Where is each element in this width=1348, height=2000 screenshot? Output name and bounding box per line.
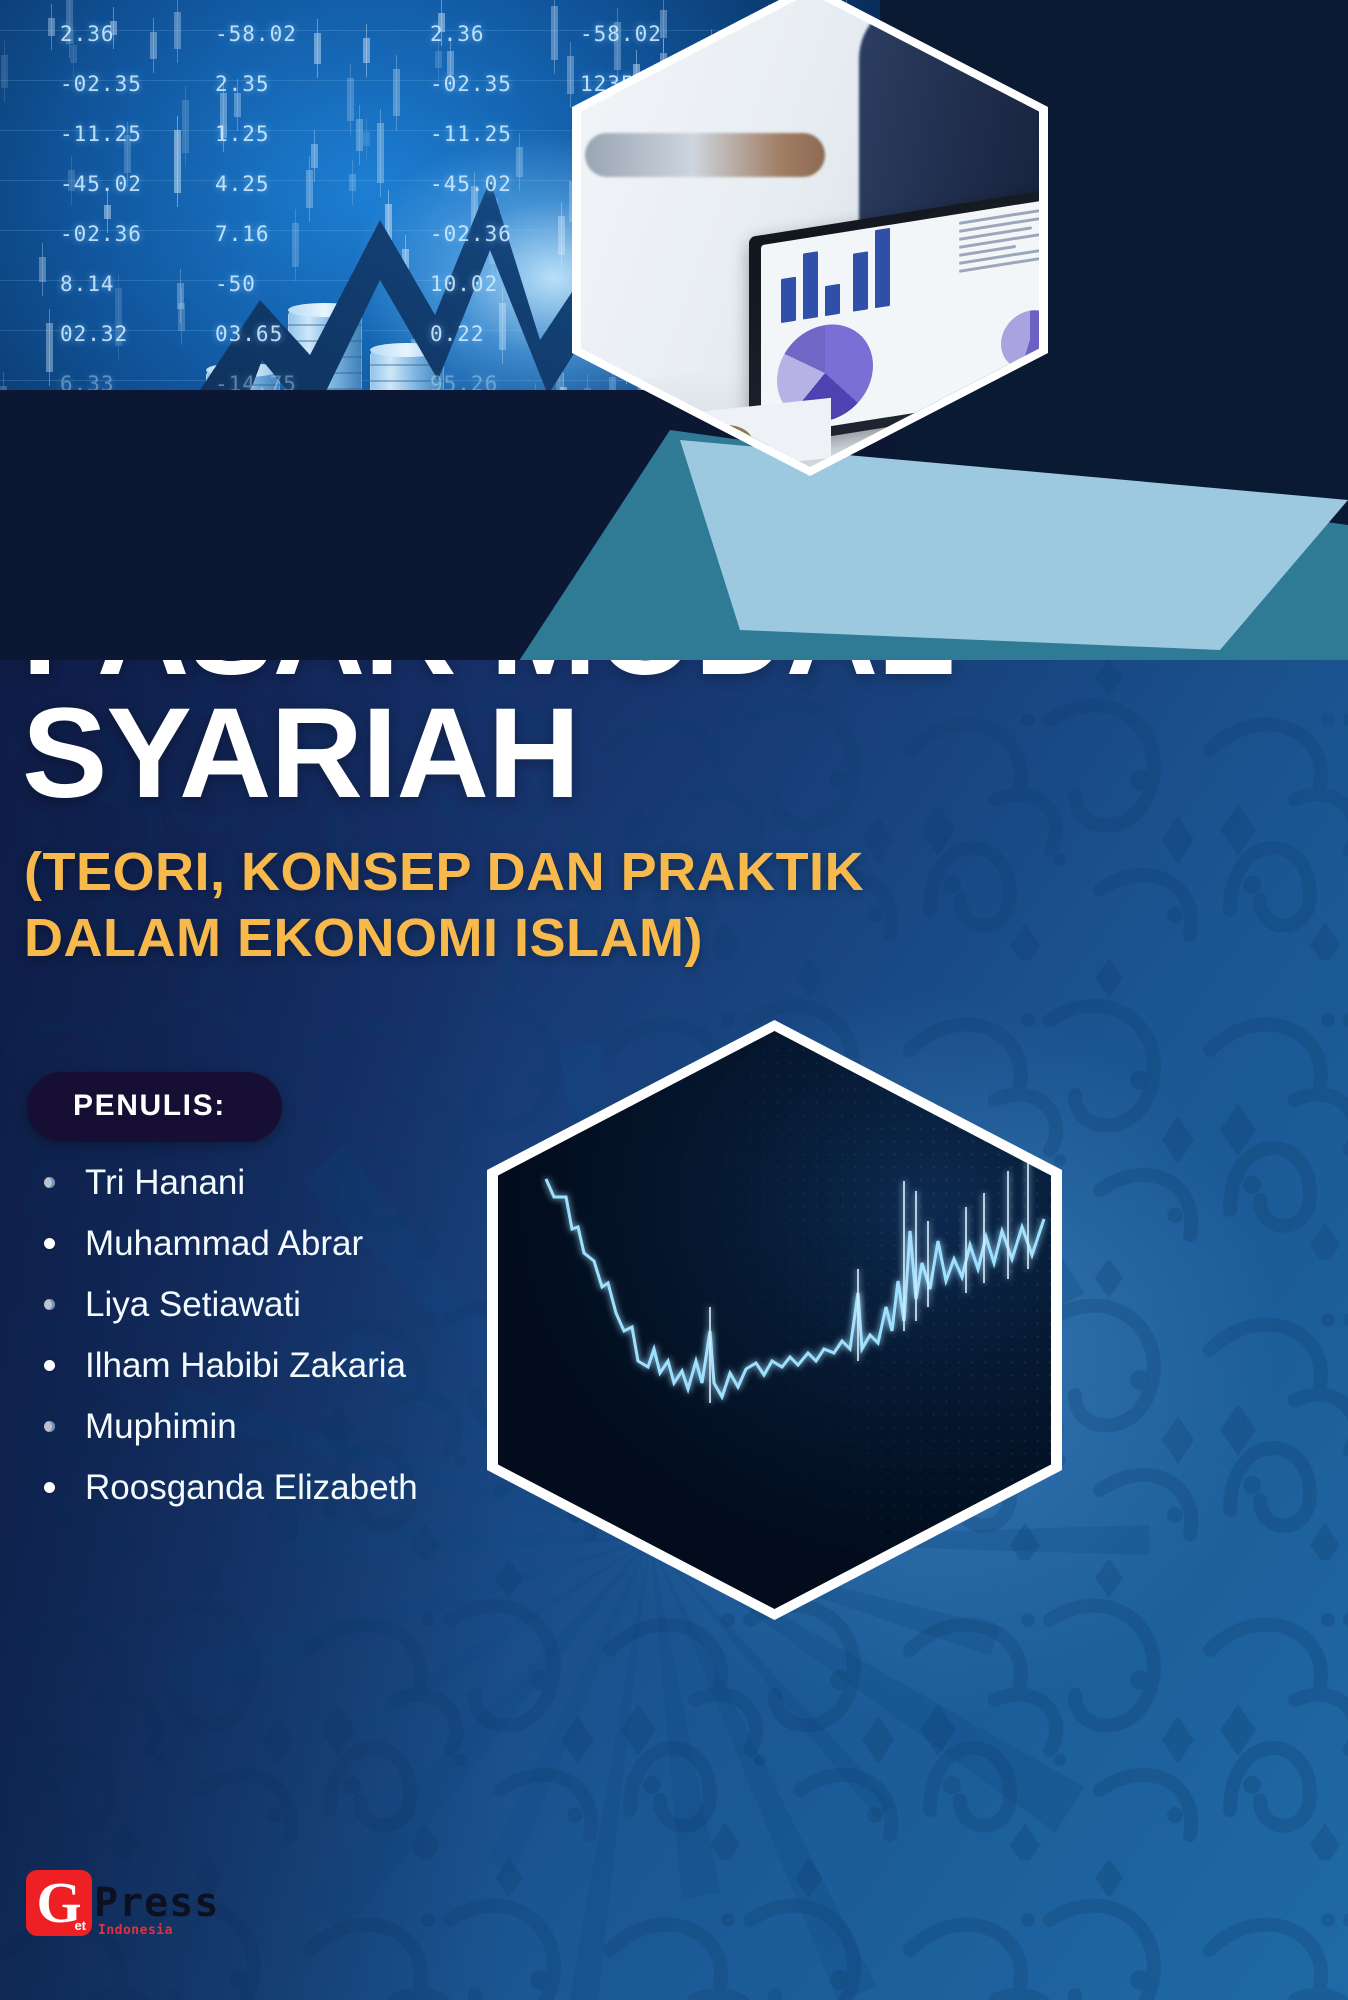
author-name: Liya Setiawati	[85, 1287, 301, 1322]
ticker-value: 03.65	[215, 322, 283, 346]
subtitle-line-2: DALAM EKONOMI ISLAM)	[24, 908, 703, 968]
book-cover: 2.36-58.022.36-58.02-58.022.35-02.352.35…	[0, 0, 1348, 2000]
ticker-value: 2.35	[215, 72, 270, 96]
ticker-value: -11.25	[430, 122, 512, 146]
ticker-value: -11.25	[60, 122, 142, 146]
ticker-value: 8.14	[60, 272, 115, 296]
ticker-value: -58.02	[215, 22, 297, 46]
bullet-icon	[44, 1360, 55, 1371]
bullet-icon	[44, 1421, 55, 1432]
ticker-value: 4.25	[215, 172, 270, 196]
ticker-value: 1.25	[215, 122, 270, 146]
page-subtitle: (TEORI, KONSEP DAN PRAKTIK DALAM EKONOMI…	[24, 840, 1024, 972]
ticker-value: 02.32	[60, 322, 128, 346]
bullet-icon	[44, 1238, 55, 1249]
author-name: Ilham Habibi Zakaria	[85, 1348, 406, 1383]
handshake-arms	[585, 133, 825, 177]
ticker-value: -02.35	[60, 72, 142, 96]
screen-bar	[803, 251, 818, 319]
authors-label-badge: PENULIS:	[27, 1072, 282, 1142]
bullet-icon	[44, 1177, 55, 1188]
publisher-logo: G et Press Indonesia	[26, 1870, 219, 1936]
bullet-icon	[44, 1299, 55, 1310]
ticker-value: -45.02	[430, 172, 512, 196]
ticker-value: 2.36	[430, 22, 485, 46]
logo-mark-icon: G et	[26, 1870, 92, 1936]
ticker-value: 7.16	[215, 222, 270, 246]
ticker-value: -02.35	[430, 72, 512, 96]
logo-wordmark: Press Indonesia	[94, 1881, 219, 1925]
subtitle-line-1: (TEORI, KONSEP DAN PRAKTIK	[24, 842, 864, 902]
author-name: Muphimin	[85, 1409, 237, 1444]
main-cover-panel: PASAR MODAL SYARIAH (TEORI, KONSEP DAN P…	[0, 660, 1348, 2000]
author-name: Tri Hanani	[85, 1165, 245, 1200]
bullet-icon	[44, 1482, 55, 1493]
ticker-value: 0.22	[430, 322, 485, 346]
page-title: PASAR MODAL SYARIAH	[22, 660, 1332, 816]
screen-pie-chart-small	[1001, 306, 1039, 373]
title-line-2: SYARIAH	[22, 693, 1332, 816]
ticker-value: -58.02	[580, 22, 662, 46]
screen-bar	[825, 283, 840, 315]
ticker-value: -45.02	[60, 172, 142, 196]
author-name: Muhammad Abrar	[85, 1226, 363, 1261]
author-name: Roosganda Elizabeth	[85, 1470, 418, 1505]
ticker-value: -02.36	[430, 222, 512, 246]
screen-text-lines	[959, 205, 1039, 277]
top-photo-band: 2.36-58.022.36-58.02-58.022.35-02.352.35…	[0, 0, 1348, 690]
screen-bar	[853, 251, 868, 311]
logo-country-text: Indonesia	[98, 1923, 173, 1938]
ticker-value: -02.36	[60, 222, 142, 246]
ticker-value: -50	[215, 272, 256, 296]
ticker-value: 2.36	[60, 22, 115, 46]
logo-press-text: Press	[94, 1881, 219, 1925]
ticker-value: 10.02	[430, 272, 498, 296]
screen-bar	[875, 227, 890, 307]
screen-bar	[781, 276, 796, 322]
logo-letter-et: et	[74, 1918, 86, 1933]
